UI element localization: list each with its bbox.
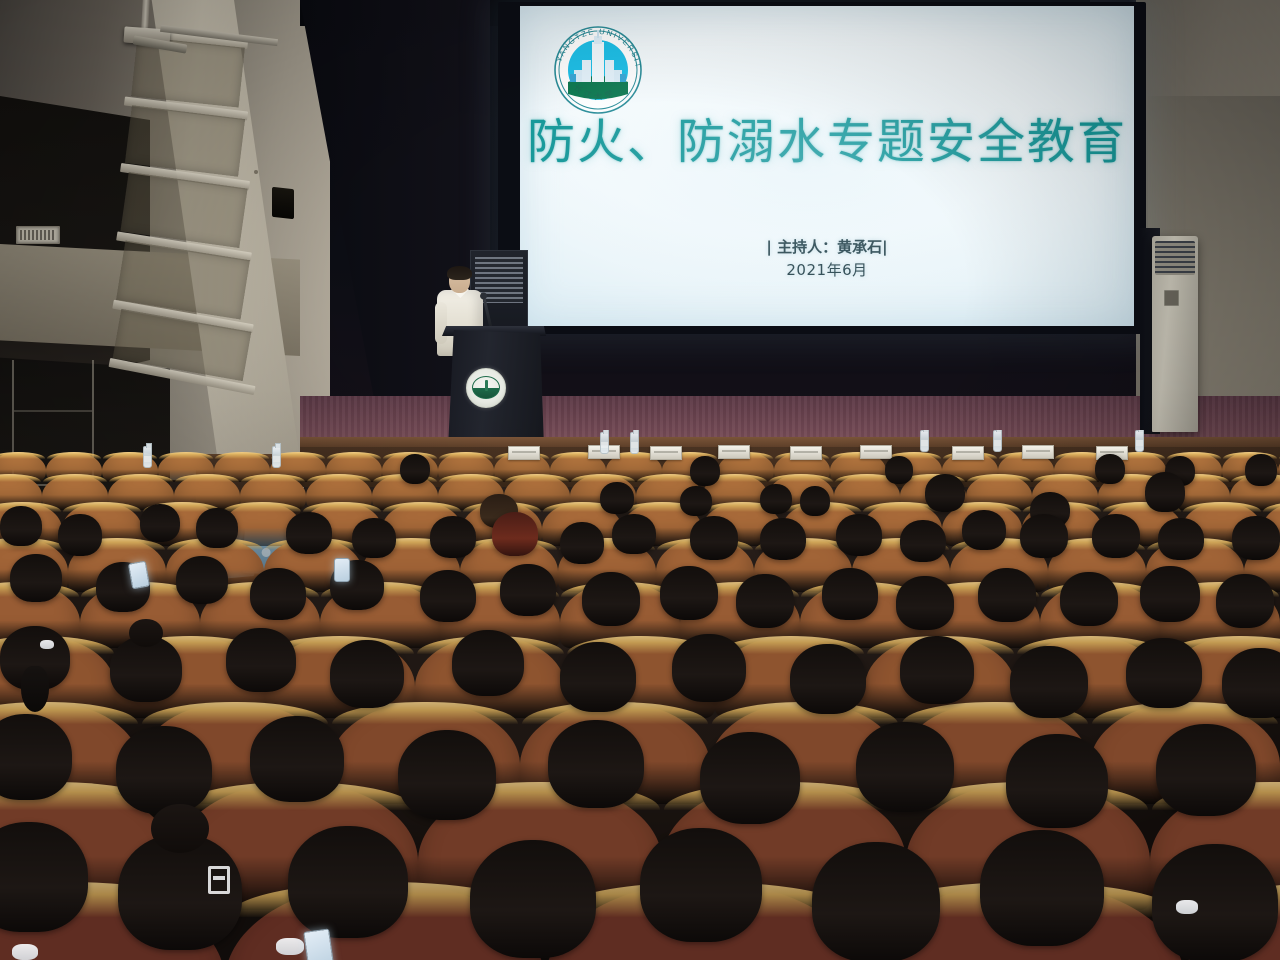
audience-head bbox=[1216, 574, 1274, 628]
audience-head bbox=[925, 474, 965, 512]
audience-head bbox=[640, 828, 762, 942]
mobile-phone-screen bbox=[334, 558, 350, 582]
audience-head bbox=[1140, 566, 1200, 622]
audience-head bbox=[548, 720, 644, 808]
water-bottle bbox=[1135, 430, 1144, 452]
audience-head bbox=[660, 566, 718, 620]
audience-head bbox=[760, 484, 792, 514]
audience-head bbox=[10, 554, 62, 602]
audience-head bbox=[1222, 648, 1280, 718]
audience-head bbox=[836, 514, 882, 556]
audience-head bbox=[1010, 646, 1088, 718]
audience-head bbox=[790, 644, 866, 714]
water-bottle bbox=[143, 446, 152, 468]
audience-head bbox=[1092, 514, 1140, 558]
hair-clip bbox=[208, 866, 230, 894]
audience-head bbox=[978, 568, 1036, 622]
audience-head bbox=[800, 486, 830, 516]
audience-head bbox=[980, 830, 1104, 946]
audience-head bbox=[962, 510, 1006, 550]
audience-head bbox=[1158, 518, 1204, 560]
presenter-arm bbox=[435, 302, 447, 344]
ac-control-panel bbox=[1164, 290, 1179, 306]
audience-head bbox=[896, 576, 954, 630]
slide-title: 防火、防溺水专题安全教育 bbox=[520, 118, 1134, 166]
slide-date-line: 2021年6月 bbox=[520, 259, 1134, 282]
audience-head bbox=[1006, 734, 1108, 828]
audience-head bbox=[582, 572, 640, 626]
audience-head bbox=[330, 640, 404, 708]
ac-grille bbox=[1155, 241, 1195, 275]
audience-head bbox=[58, 514, 102, 556]
yangtze-university-seal-icon: YANGTZE UNIVERSITY 长江大学 bbox=[548, 20, 648, 120]
auditorium-photo-scene: YANGTZE UNIVERSITY 长江大学 防火、防溺水专题安全教育 | 主… bbox=[0, 0, 1280, 960]
audience-head bbox=[0, 506, 42, 546]
audience-head bbox=[736, 574, 794, 628]
place-name-card bbox=[1022, 445, 1054, 459]
place-name-card bbox=[718, 445, 750, 459]
audience-head bbox=[116, 726, 212, 814]
projection-screen[interactable]: YANGTZE UNIVERSITY 长江大学 防火、防溺水专题安全教育 | 主… bbox=[520, 6, 1134, 326]
floor-air-conditioner-icon bbox=[1152, 236, 1198, 432]
audience-head bbox=[1145, 472, 1185, 512]
audience-head bbox=[1245, 454, 1277, 486]
audience-head bbox=[470, 840, 596, 958]
audience-head bbox=[900, 636, 974, 704]
audience-head bbox=[700, 732, 800, 824]
audience-head bbox=[196, 508, 238, 548]
audience-head bbox=[690, 516, 738, 560]
audience-head bbox=[492, 512, 538, 556]
audience-head bbox=[560, 642, 636, 712]
audience-head bbox=[140, 504, 180, 542]
audience-head bbox=[0, 626, 70, 690]
audience-head bbox=[110, 636, 182, 702]
audience-head bbox=[560, 522, 604, 564]
audience-head bbox=[690, 456, 720, 486]
audience-head bbox=[1152, 844, 1278, 960]
place-name-card bbox=[860, 445, 892, 459]
acoustic-panel-group bbox=[118, 0, 318, 492]
audience-head bbox=[400, 454, 430, 484]
audience-head bbox=[398, 730, 496, 820]
audience-head bbox=[1060, 572, 1118, 626]
place-name-card bbox=[790, 446, 822, 460]
place-name-card bbox=[952, 446, 984, 460]
audience-head bbox=[680, 486, 712, 516]
podium-crest-icon bbox=[466, 368, 506, 408]
audience-head bbox=[812, 842, 940, 960]
audience-head bbox=[352, 518, 396, 558]
audience-head bbox=[430, 516, 476, 558]
audience-head bbox=[900, 520, 946, 562]
audience-head bbox=[612, 514, 656, 554]
water-bottle bbox=[630, 432, 639, 454]
audience-head bbox=[600, 482, 634, 514]
face-mask bbox=[12, 944, 38, 960]
water-bottle bbox=[993, 430, 1002, 452]
audience-head bbox=[885, 456, 913, 484]
place-name-card bbox=[508, 446, 540, 460]
audience-head bbox=[856, 722, 954, 812]
face-mask bbox=[1176, 900, 1198, 914]
slide-subtitle: | 主持人：黄承石| 2021年6月 bbox=[520, 236, 1134, 283]
audience-head bbox=[1095, 454, 1125, 484]
presenter-hair bbox=[447, 266, 472, 280]
water-bottle bbox=[600, 432, 609, 454]
audience-head bbox=[226, 628, 296, 692]
wall-loudspeaker-icon bbox=[272, 187, 294, 219]
audience-head bbox=[420, 570, 476, 622]
audience-head bbox=[1232, 516, 1280, 560]
wall-screw bbox=[254, 170, 258, 174]
audience-head bbox=[500, 564, 556, 616]
audience-head bbox=[1126, 638, 1202, 708]
water-bottle bbox=[920, 430, 929, 452]
audience-head bbox=[760, 518, 806, 560]
audience-head bbox=[822, 568, 878, 620]
water-bottle bbox=[272, 446, 281, 468]
audience-head bbox=[250, 568, 306, 620]
audience-head bbox=[452, 630, 524, 696]
wall-vent-icon bbox=[16, 226, 60, 244]
place-name-card bbox=[650, 446, 682, 460]
audience-head bbox=[1156, 724, 1256, 816]
audience-head bbox=[1020, 514, 1068, 558]
face-mask bbox=[276, 938, 304, 955]
audience-seating bbox=[0, 430, 1280, 960]
face-mask bbox=[40, 640, 54, 649]
audience-head bbox=[672, 634, 746, 702]
audience-head bbox=[176, 556, 228, 604]
audience-head bbox=[250, 716, 344, 802]
slide-host-line: | 主持人：黄承石| bbox=[520, 236, 1134, 259]
audience-head bbox=[286, 512, 332, 554]
